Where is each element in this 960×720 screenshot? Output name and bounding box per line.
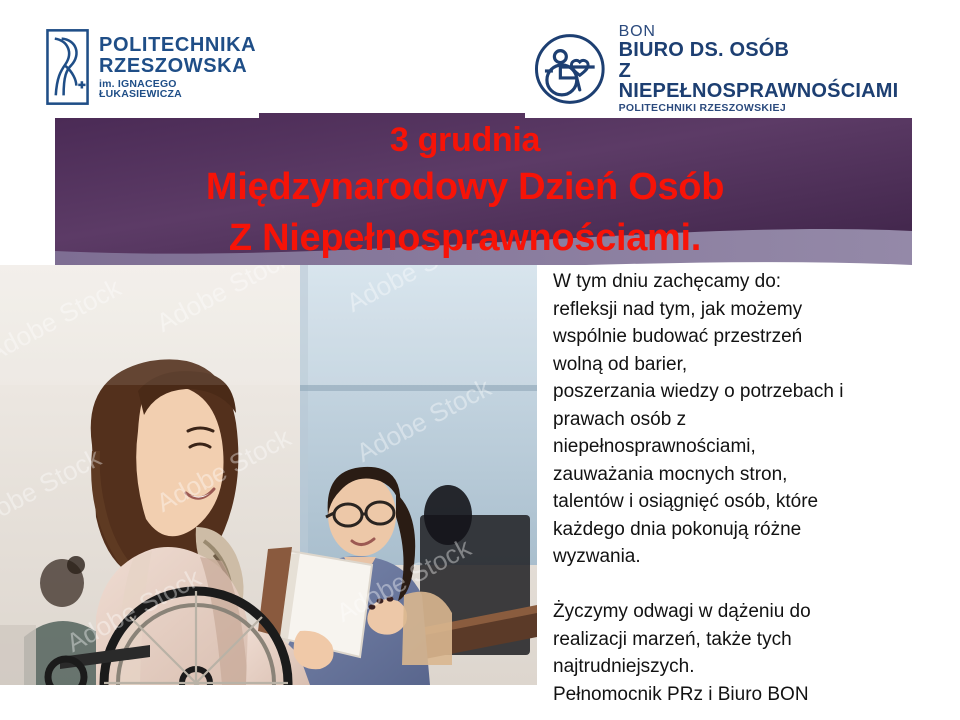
bon-acronym: BON (619, 24, 915, 40)
university-logo-inner: POLITECHNIKA RZESZOWSKA im. IGNACEGO ŁUK… (46, 28, 259, 106)
pr-monogram-crest-icon (46, 28, 89, 106)
university-patron-line: im. IGNACEGO ŁUKASIEWICZA (99, 79, 259, 100)
university-logo: POLITECHNIKA RZESZOWSKA im. IGNACEGO ŁUK… (28, 0, 259, 118)
body-copy: W tym dniu zachęcamy do: refleksji nad t… (553, 268, 953, 708)
bon-name-line-1: BIURO DS. OSÓB (619, 40, 915, 60)
wheelchair-heart-circle-icon (533, 32, 607, 106)
bon-logo: BON BIURO DS. OSÓB Z NIEPEŁNOSPRAWNOŚCIA… (525, 0, 915, 118)
university-logo-text: POLITECHNIKA RZESZOWSKA im. IGNACEGO ŁUK… (99, 35, 259, 100)
university-name-line-2: RZESZOWSKA (99, 56, 259, 76)
university-name-line-1: POLITECHNIKA (99, 35, 259, 55)
bon-affiliation: POLITECHNIKI RZESZOWSKIEJ (619, 103, 915, 114)
purple-banner (55, 113, 912, 265)
purple-banner-shape (55, 113, 912, 265)
bon-name-line-2: Z NIEPEŁNOSPRAWNOŚCIAMI (619, 61, 915, 102)
two-women-office-wheelchair-photo: Adobe Stock Adobe Stock Adobe Stock Adob… (0, 265, 537, 685)
slide-canvas: 3 grudnia Międzynarodowy Dzień Osób Z Ni… (0, 0, 960, 720)
photo-illustration (0, 265, 537, 685)
bon-logo-text: BON BIURO DS. OSÓB Z NIEPEŁNOSPRAWNOŚCIA… (619, 24, 915, 114)
bon-logo-inner: BON BIURO DS. OSÓB Z NIEPEŁNOSPRAWNOŚCIA… (533, 24, 915, 114)
